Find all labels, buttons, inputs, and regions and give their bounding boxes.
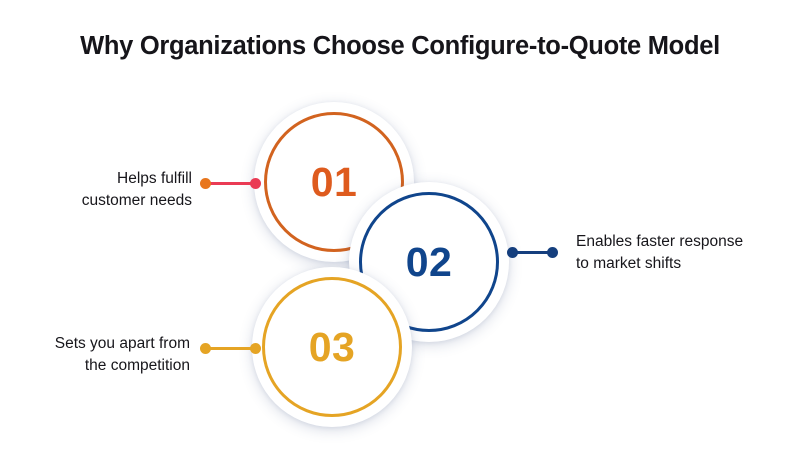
step-number-02: 02 [406, 242, 453, 283]
connector-dot-circle-03 [250, 343, 261, 354]
infographic-canvas: Why Organizations Choose Configure-to-Qu… [0, 0, 800, 465]
step-label-03-line-2: the competition [0, 355, 190, 377]
connector-dot-circle-01 [250, 178, 261, 189]
step-label-01: Helps fulfill customer needs [0, 168, 192, 213]
step-label-02-line-1: Enables faster response [576, 231, 791, 253]
connector-line-03 [206, 347, 256, 350]
connector-03 [200, 342, 262, 354]
step-label-02-line-2: to market shifts [576, 253, 791, 275]
step-label-03: Sets you apart from the competition [0, 333, 190, 378]
connector-02 [507, 246, 559, 258]
step-number-03: 03 [309, 327, 356, 368]
step-label-03-line-1: Sets you apart from [0, 333, 190, 355]
step-number-01: 01 [311, 162, 358, 203]
page-title: Why Organizations Choose Configure-to-Qu… [0, 32, 800, 61]
step-label-02: Enables faster response to market shifts [576, 231, 791, 276]
connector-line-01 [206, 182, 256, 185]
step-label-01-line-2: customer needs [0, 190, 192, 212]
step-circle-03: 03 [252, 267, 412, 427]
connector-01 [200, 177, 262, 189]
connector-dot-text-01 [200, 178, 211, 189]
connector-dot-text-03 [200, 343, 211, 354]
connector-dot-text-02 [547, 247, 558, 258]
step-label-01-line-1: Helps fulfill [0, 168, 192, 190]
connector-dot-circle-02 [507, 247, 518, 258]
